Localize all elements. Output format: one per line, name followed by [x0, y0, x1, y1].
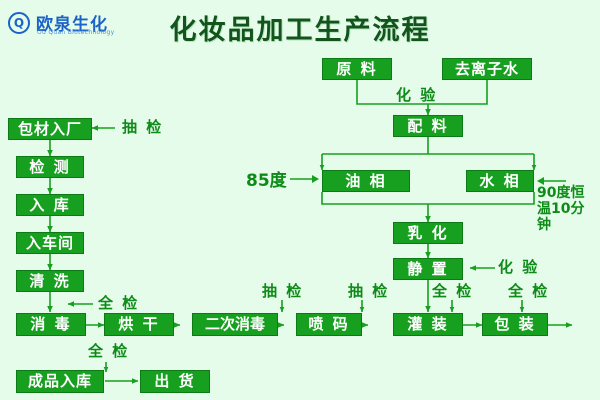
label-spot-check-code-spray: 抽 检 — [348, 284, 389, 300]
label-temperature-85: 85度 — [246, 173, 287, 191]
page-title: 化妆品加工生产流程 — [0, 8, 600, 47]
flowchart-canvas: Q 欧泉生化 Ou Quan Biotechnology 化妆品加工生产流程 — [0, 0, 600, 400]
node-sterilize-second[interactable]: 二次消毒 — [192, 313, 278, 336]
node-workshop-in[interactable]: 入车间 — [16, 232, 84, 254]
node-wash[interactable]: 清 洗 — [16, 270, 84, 292]
node-batching[interactable]: 配 料 — [393, 115, 463, 137]
label-assay-top: 化 验 — [396, 88, 437, 104]
node-shipment[interactable]: 出 货 — [140, 370, 210, 393]
node-packing[interactable]: 包 装 — [482, 313, 548, 336]
label-spot-check-packaging-in: 抽 检 — [122, 120, 163, 136]
node-dry[interactable]: 烘 干 — [104, 313, 174, 336]
label-spot-check-sterilize2: 抽 检 — [262, 284, 303, 300]
node-warehouse-in[interactable]: 入 库 — [16, 194, 84, 216]
label-temperature-90-line2: 温10分 — [537, 202, 584, 217]
node-sterilize[interactable]: 消 毒 — [16, 313, 86, 336]
arrow-85-to-oil-phase — [290, 172, 320, 186]
label-full-check-wash: 全 检 — [98, 296, 139, 312]
node-deionized-water[interactable]: 去离子水 — [442, 58, 532, 80]
node-finished-goods-in[interactable]: 成品入库 — [16, 370, 104, 393]
node-emulsify[interactable]: 乳 化 — [393, 222, 463, 244]
node-water-phase[interactable]: 水 相 — [466, 170, 534, 192]
label-full-check-packing: 全 检 — [508, 284, 549, 300]
label-full-check-filling: 全 检 — [432, 284, 473, 300]
node-filling[interactable]: 灌 装 — [393, 313, 463, 336]
node-inspect[interactable]: 检 测 — [16, 156, 84, 178]
label-temperature-90-line1: 90度恒 — [537, 186, 584, 201]
label-assay-settle: 化 验 — [498, 260, 539, 276]
node-raw-material[interactable]: 原 料 — [322, 58, 392, 80]
node-packaging-material-in[interactable]: 包材入厂 — [8, 118, 92, 140]
label-full-check-shipment: 全 检 — [88, 344, 129, 360]
node-settle[interactable]: 静 置 — [393, 258, 463, 280]
node-code-spray[interactable]: 喷 码 — [296, 313, 362, 336]
label-temperature-90-line3: 钟 — [537, 218, 551, 233]
node-oil-phase[interactable]: 油 相 — [322, 170, 410, 192]
